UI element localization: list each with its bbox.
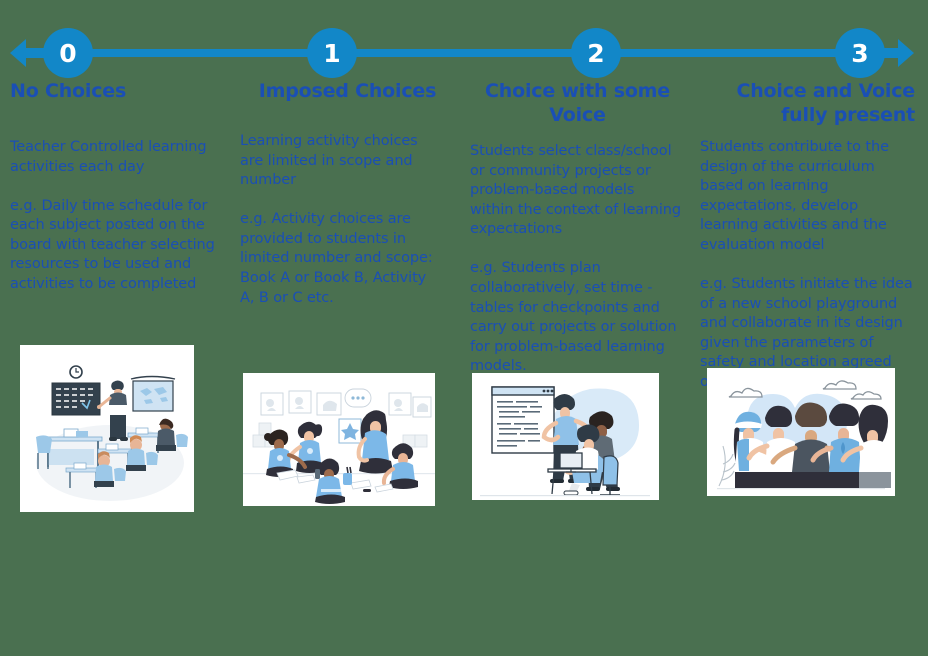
column-3-body: Students contribute to the design of the… <box>700 138 915 392</box>
illustration-classroom-teacher-lecture <box>20 345 194 512</box>
illustration-teacher-with-children-on-floor <box>243 373 435 506</box>
infographic-canvas: 0 1 2 3 No Choices Teacher Controlled le… <box>0 0 928 656</box>
column-1-title: Imposed Choices <box>240 80 455 104</box>
timeline-bar <box>26 49 902 57</box>
column-3-title: Choice and Voice fully present <box>700 80 915 128</box>
timeline-node-0-label: 0 <box>59 41 76 66</box>
illustration-team-collaboration-presentation <box>472 373 659 500</box>
column-2-title: Choice with some Voice <box>470 80 685 128</box>
column-0-body: Teacher Controlled learning activities e… <box>10 138 222 295</box>
column-0-title: No Choices <box>10 80 225 104</box>
column-imposed-choices: Imposed Choices Learning activity choice… <box>240 80 455 104</box>
timeline-node-0[interactable]: 0 <box>43 28 93 78</box>
column-choice-and-voice-fully-present: Choice and Voice fully present Students … <box>700 80 915 128</box>
column-choice-with-some-voice: Choice with some Voice Students select c… <box>470 80 685 128</box>
timeline-node-1[interactable]: 1 <box>307 28 357 78</box>
timeline-node-3-label: 3 <box>851 41 868 66</box>
column-no-choices: No Choices Teacher Controlled learning a… <box>10 80 225 104</box>
timeline-node-2[interactable]: 2 <box>571 28 621 78</box>
timeline-node-1-label: 1 <box>323 41 340 66</box>
column-2-body: Students select class/school or communit… <box>470 142 682 377</box>
timeline: 0 1 2 3 <box>0 28 928 78</box>
illustration-group-of-people-embracing <box>707 368 895 496</box>
timeline-node-2-label: 2 <box>587 41 604 66</box>
column-1-body: Learning activity choices are limited in… <box>240 132 440 308</box>
timeline-node-3[interactable]: 3 <box>835 28 885 78</box>
